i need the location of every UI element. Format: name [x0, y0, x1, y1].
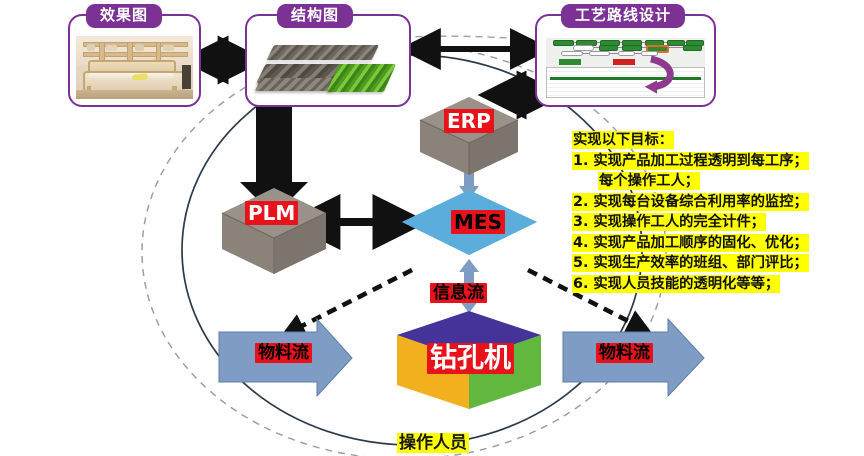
diagram-canvas: 效果图: [0, 0, 864, 456]
panel-rendering-image: [76, 36, 193, 99]
goals-box: 实现以下目标： 1. 实现产品加工过程透明到每工序； 每个操作工人； 2. 实现…: [572, 130, 858, 294]
drill-machine-label: 钻孔机: [427, 343, 514, 374]
panel-structure-title: 结构图: [277, 4, 353, 28]
drill-machine-text: 钻孔机: [427, 343, 514, 374]
erp-text: ERP: [444, 109, 494, 133]
arrow-erp-to-mes: [459, 172, 479, 199]
goal-item: 5. 实现生产效率的班组、部门评比；: [572, 253, 858, 274]
panel-rendering-title: 效果图: [86, 4, 162, 28]
material-flow-right-text: 物料流: [596, 343, 653, 363]
goal-item: 1. 实现产品加工过程透明到每工序；: [572, 151, 858, 172]
goals-heading: 实现以下目标：: [572, 130, 858, 151]
goal-item: 4. 实现产品加工顺序的固化、优化；: [572, 233, 858, 254]
mes-label: MES: [451, 211, 505, 234]
goal-item: 每个操作工人；: [572, 171, 858, 192]
panel-process-route-title: 工艺路线设计: [561, 4, 685, 28]
info-flow-label: 信息流: [430, 278, 487, 303]
panel-structure-image: [253, 36, 403, 99]
material-flow-right-label: 物料流: [596, 338, 653, 363]
goal-item: 3. 实现操作工人的完全计件；: [572, 212, 858, 233]
panel-structure[interactable]: 结构图: [245, 14, 411, 107]
plm-text: PLM: [245, 201, 298, 225]
panel-rendering[interactable]: 效果图: [68, 14, 201, 107]
operator-text: 操作人员: [397, 433, 469, 453]
panel-process-route-image: [543, 36, 708, 99]
plm-label: PLM: [245, 202, 298, 225]
erp-label: ERP: [444, 110, 494, 133]
arrow-mes-to-material-left: [292, 270, 412, 331]
material-flow-left-label: 物料流: [255, 338, 312, 363]
goal-item: 6. 实现人员技能的透明化等等；: [572, 274, 858, 295]
info-flow-text: 信息流: [430, 283, 487, 303]
material-flow-left-text: 物料流: [255, 343, 312, 363]
arrow-structure-to-plm: [240, 105, 308, 216]
mes-text: MES: [451, 210, 505, 234]
goal-item: 2. 实现每台设备综合利用率的监控；: [572, 192, 858, 213]
operator-label: 操作人员: [397, 428, 469, 453]
panel-process-route[interactable]: 工艺路线设计: [535, 14, 716, 107]
